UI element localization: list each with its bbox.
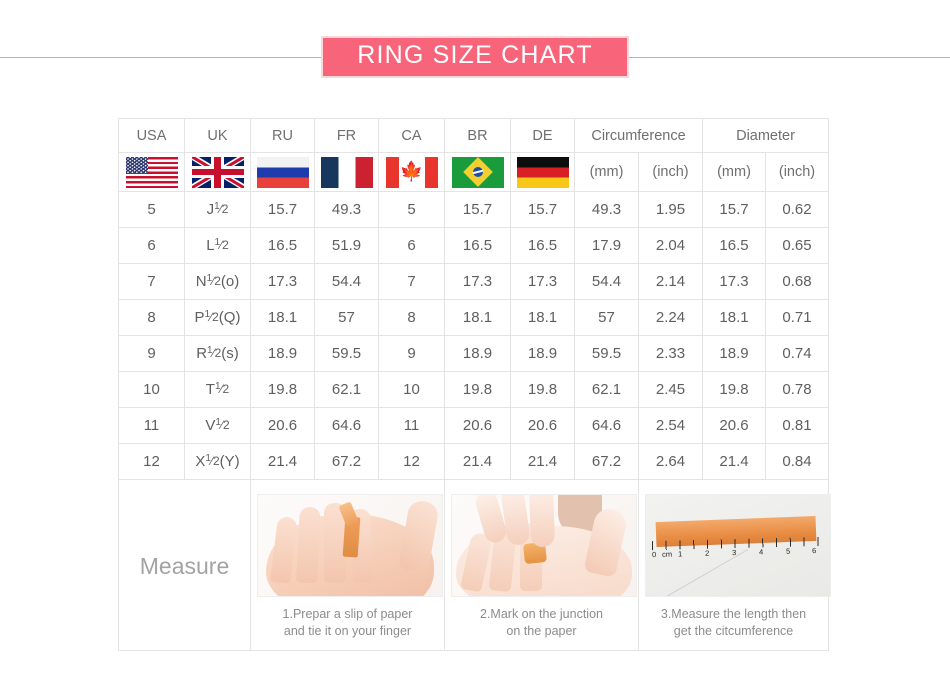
flag-uk-icon [192, 157, 244, 188]
header-flag-row: 🍁 (mm) (inch) (mm) (inch) [119, 153, 829, 192]
cell-ca: 5 [379, 192, 445, 228]
measure-row: Measure 1.Prepar a slip of paper and tie… [119, 480, 829, 651]
ruler-mark: 3 [732, 548, 736, 557]
unit-diameter-mm: (mm) [703, 153, 766, 192]
cell-fr: 49.3 [315, 192, 379, 228]
table-row: 11V1⁄220.664.61120.620.664.62.5420.60.81 [119, 408, 829, 444]
cell-ru: 18.1 [251, 300, 315, 336]
page-title: RING SIZE CHART [321, 36, 629, 78]
cell-fr: 54.4 [315, 264, 379, 300]
ring-size-table: USA UK RU FR CA BR DE Circumference Diam… [118, 118, 829, 651]
cell-usa: 5 [119, 192, 185, 228]
cell-diameter-mm: 15.7 [703, 192, 766, 228]
measure-step-2-caption: 2.Mark on the junction on the paper [451, 606, 632, 640]
cell-ru: 17.3 [251, 264, 315, 300]
cell-usa: 12 [119, 444, 185, 480]
cell-ca: 11 [379, 408, 445, 444]
header-uk: UK [185, 119, 251, 153]
cell-de: 18.9 [511, 336, 575, 372]
flag-cell-de [511, 153, 575, 192]
cell-ru: 19.8 [251, 372, 315, 408]
cell-circumference-inch: 2.33 [639, 336, 703, 372]
cell-uk: J1⁄2 [185, 192, 251, 228]
cell-diameter-mm: 18.9 [703, 336, 766, 372]
cell-de: 18.1 [511, 300, 575, 336]
cell-diameter-inch: 0.68 [766, 264, 829, 300]
cell-diameter-mm: 16.5 [703, 228, 766, 264]
flag-brazil-icon [452, 157, 504, 188]
cell-uk: T1⁄2 [185, 372, 251, 408]
cell-circumference-mm: 59.5 [575, 336, 639, 372]
measure-step-3-caption-line2: get the citcumference [645, 623, 822, 640]
flag-cell-uk [185, 153, 251, 192]
table-header: USA UK RU FR CA BR DE Circumference Diam… [119, 119, 829, 192]
cell-circumference-inch: 2.54 [639, 408, 703, 444]
flag-cell-ru [251, 153, 315, 192]
cell-br: 21.4 [445, 444, 511, 480]
cell-uk: X1⁄2(Y) [185, 444, 251, 480]
unit-diameter-inch: (inch) [766, 153, 829, 192]
cell-circumference-mm: 54.4 [575, 264, 639, 300]
measure-label-cell: Measure [119, 480, 251, 651]
cell-usa: 7 [119, 264, 185, 300]
cell-br: 18.9 [445, 336, 511, 372]
cell-usa: 10 [119, 372, 185, 408]
cell-diameter-mm: 20.6 [703, 408, 766, 444]
cell-circumference-inch: 2.45 [639, 372, 703, 408]
cell-usa: 8 [119, 300, 185, 336]
cell-uk: R1⁄2(s) [185, 336, 251, 372]
cell-circumference-inch: 1.95 [639, 192, 703, 228]
header-de: DE [511, 119, 575, 153]
flag-cell-fr [315, 153, 379, 192]
cell-circumference-mm: 67.2 [575, 444, 639, 480]
measure-step-3-caption-line1: 3.Measure the length then [645, 606, 822, 623]
flag-cell-ca: 🍁 [379, 153, 445, 192]
table-row: 7N1⁄2(o)17.354.4717.317.354.42.1417.30.6… [119, 264, 829, 300]
measure-section: Measure 1.Prepar a slip of paper and tie… [119, 480, 829, 651]
measure-step-1-caption-line2: and tie it on your finger [257, 623, 438, 640]
cell-diameter-inch: 0.71 [766, 300, 829, 336]
cell-circumference-inch: 2.64 [639, 444, 703, 480]
cell-ru: 15.7 [251, 192, 315, 228]
cell-br: 15.7 [445, 192, 511, 228]
measure-step-1-caption: 1.Prepar a slip of paper and tie it on y… [257, 606, 438, 640]
table-row: 9R1⁄2(s)18.959.5918.918.959.52.3318.90.7… [119, 336, 829, 372]
measure-step-1-caption-line1: 1.Prepar a slip of paper [257, 606, 438, 623]
cell-fr: 57 [315, 300, 379, 336]
cell-ru: 16.5 [251, 228, 315, 264]
cell-de: 20.6 [511, 408, 575, 444]
flag-france-icon [321, 157, 373, 188]
unit-circumference-inch: (inch) [639, 153, 703, 192]
cell-ca: 7 [379, 264, 445, 300]
cell-circumference-mm: 49.3 [575, 192, 639, 228]
cell-diameter-inch: 0.78 [766, 372, 829, 408]
cell-circumference-mm: 17.9 [575, 228, 639, 264]
cell-fr: 62.1 [315, 372, 379, 408]
cell-fr: 51.9 [315, 228, 379, 264]
cell-diameter-mm: 18.1 [703, 300, 766, 336]
cell-diameter-inch: 0.62 [766, 192, 829, 228]
unit-circumference-mm: (mm) [575, 153, 639, 192]
measure-step-3: 0cm123456 3.Measure the length then get … [639, 480, 829, 651]
cell-ru: 21.4 [251, 444, 315, 480]
hand-with-paper-strip-photo [257, 494, 443, 597]
table-row: 8P1⁄2(Q)18.157818.118.1572.2418.10.71 [119, 300, 829, 336]
cell-br: 18.1 [445, 300, 511, 336]
cell-br: 19.8 [445, 372, 511, 408]
cell-de: 17.3 [511, 264, 575, 300]
cell-circumference-mm: 57 [575, 300, 639, 336]
header-ru: RU [251, 119, 315, 153]
cell-ca: 12 [379, 444, 445, 480]
flag-usa-icon [126, 157, 178, 188]
measure-label: Measure [140, 553, 229, 579]
cell-usa: 6 [119, 228, 185, 264]
cell-uk: L1⁄2 [185, 228, 251, 264]
ruler-mark: 5 [786, 547, 790, 556]
cell-ca: 6 [379, 228, 445, 264]
ruler-mark: 4 [759, 547, 763, 556]
cell-circumference-inch: 2.04 [639, 228, 703, 264]
cell-diameter-mm: 19.8 [703, 372, 766, 408]
cell-uk: V1⁄2 [185, 408, 251, 444]
flag-canada-icon: 🍁 [386, 157, 438, 188]
header-fr: FR [315, 119, 379, 153]
cell-de: 16.5 [511, 228, 575, 264]
ruler-measuring-strip-photo: 0cm123456 [645, 494, 831, 597]
flag-cell-usa [119, 153, 185, 192]
cell-uk: N1⁄2(o) [185, 264, 251, 300]
cell-ru: 20.6 [251, 408, 315, 444]
flag-russia-icon [257, 157, 309, 188]
ruler-mark: cm [662, 550, 672, 559]
cell-circumference-mm: 64.6 [575, 408, 639, 444]
cell-circumference-mm: 62.1 [575, 372, 639, 408]
measure-step-2-caption-line1: 2.Mark on the junction [451, 606, 632, 623]
measure-step-2: 2.Mark on the junction on the paper [445, 480, 639, 651]
cell-diameter-inch: 0.81 [766, 408, 829, 444]
header-usa: USA [119, 119, 185, 153]
cell-ru: 18.9 [251, 336, 315, 372]
cell-de: 21.4 [511, 444, 575, 480]
cell-br: 16.5 [445, 228, 511, 264]
cell-fr: 59.5 [315, 336, 379, 372]
marking-paper-junction-photo [451, 494, 637, 597]
cell-br: 17.3 [445, 264, 511, 300]
ruler-mark: 6 [812, 546, 816, 555]
cell-circumference-inch: 2.14 [639, 264, 703, 300]
cell-diameter-inch: 0.65 [766, 228, 829, 264]
cell-diameter-mm: 17.3 [703, 264, 766, 300]
cell-ca: 10 [379, 372, 445, 408]
cell-usa: 9 [119, 336, 185, 372]
measure-step-2-caption-line2: on the paper [451, 623, 632, 640]
table-row: 6L1⁄216.551.9616.516.517.92.0416.50.65 [119, 228, 829, 264]
header-diameter: Diameter [703, 119, 829, 153]
ruler-mark: 0 [652, 550, 656, 559]
cell-fr: 67.2 [315, 444, 379, 480]
cell-ca: 9 [379, 336, 445, 372]
header-circumference: Circumference [575, 119, 703, 153]
measure-step-1: 1.Prepar a slip of paper and tie it on y… [251, 480, 445, 651]
table-row: 12X1⁄2(Y)21.467.21221.421.467.22.6421.40… [119, 444, 829, 480]
cell-ca: 8 [379, 300, 445, 336]
cell-usa: 11 [119, 408, 185, 444]
cell-de: 19.8 [511, 372, 575, 408]
page-title-container: RING SIZE CHART [0, 38, 950, 76]
measure-step-3-caption: 3.Measure the length then get the citcum… [645, 606, 822, 640]
flag-germany-icon [517, 157, 569, 188]
header-name-row: USA UK RU FR CA BR DE Circumference Diam… [119, 119, 829, 153]
ruler-mark: 2 [705, 549, 709, 558]
cell-diameter-inch: 0.84 [766, 444, 829, 480]
table-row: 10T1⁄219.862.11019.819.862.12.4519.80.78 [119, 372, 829, 408]
cell-br: 20.6 [445, 408, 511, 444]
flag-cell-br [445, 153, 511, 192]
cell-uk: P1⁄2(Q) [185, 300, 251, 336]
cell-circumference-inch: 2.24 [639, 300, 703, 336]
cell-fr: 64.6 [315, 408, 379, 444]
table-body: 5J1⁄215.749.3515.715.749.31.9515.70.626L… [119, 192, 829, 480]
header-br: BR [445, 119, 511, 153]
ruler-mark: 1 [678, 549, 682, 558]
header-ca: CA [379, 119, 445, 153]
cell-diameter-mm: 21.4 [703, 444, 766, 480]
cell-diameter-inch: 0.74 [766, 336, 829, 372]
table-row: 5J1⁄215.749.3515.715.749.31.9515.70.62 [119, 192, 829, 228]
cell-de: 15.7 [511, 192, 575, 228]
